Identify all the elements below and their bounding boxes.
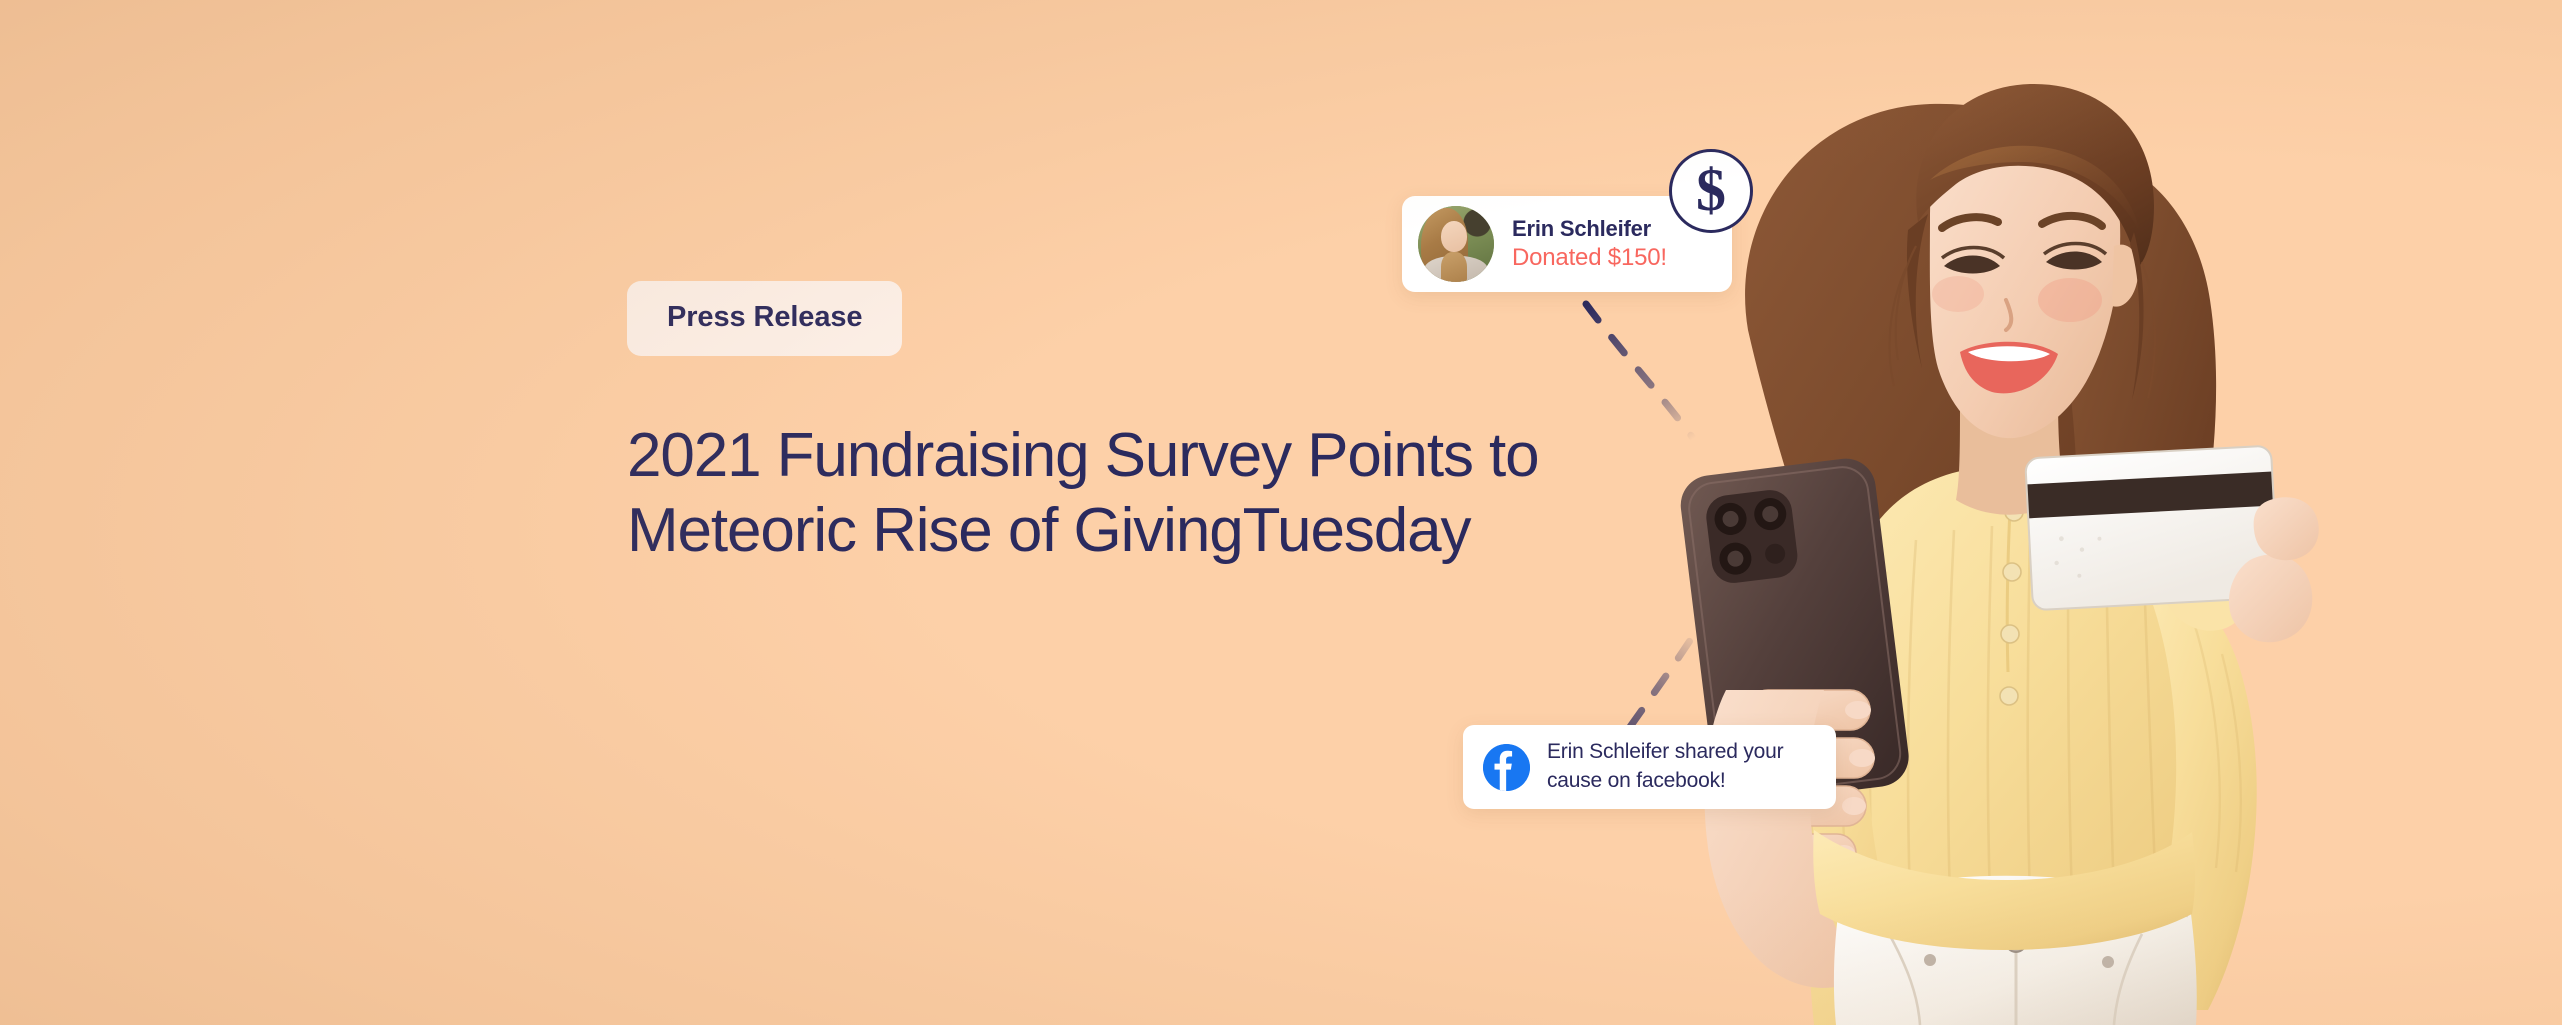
eyebrow-left (1942, 217, 1998, 228)
hair-back-right (2032, 149, 2216, 1025)
jeans-waistband (1840, 888, 2188, 916)
hair-crown (1916, 84, 2154, 268)
eye-left (1944, 256, 2000, 274)
dollar-glyph: $ (1696, 160, 1726, 220)
blush-left (1932, 276, 1984, 312)
jeans-pocket-right (2114, 934, 2142, 1025)
hair-highlight (1930, 146, 2140, 232)
teeth (1968, 346, 2050, 361)
credit-card-texture (2053, 534, 2103, 579)
sweater-buttons (2000, 503, 2023, 705)
fingernails (1833, 701, 1875, 861)
dollar-sign-icon: $ (1669, 149, 1753, 233)
sweater-hem (1813, 830, 2195, 950)
hero-photo-woman-with-phone (1630, 0, 2450, 1025)
facebook-icon (1483, 744, 1530, 791)
sweater-placket (2007, 470, 2012, 672)
eye-right (2046, 252, 2102, 270)
right-hand-thumb (2229, 554, 2312, 642)
hair-back-left (1745, 104, 2157, 1025)
hero-content-column: Press Release 2021 Fundraising Survey Po… (627, 281, 1627, 568)
jeans-rivets (1924, 954, 2114, 968)
sweater-sleeve-right (2134, 552, 2257, 1010)
jeans-button (2006, 932, 2026, 952)
eyebrow-right (2042, 216, 2102, 226)
sweater-torso (1808, 466, 2192, 1025)
sweater-cuff-right (2161, 512, 2251, 631)
facebook-share-notification-card[interactable]: Erin Schleifer shared your cause on face… (1463, 725, 1836, 809)
mouth (1960, 342, 2058, 394)
phone-camera-module (1704, 488, 1800, 586)
press-release-hero-banner: Erin Schleifer Donated $150! $ Erin Schl… (0, 0, 2562, 1025)
donor-avatar (1418, 206, 1494, 282)
donor-name: Erin Schleifer (1512, 216, 1667, 241)
page-title: 2021 Fundraising Survey Points to Meteor… (627, 418, 1547, 568)
press-release-badge[interactable]: Press Release (627, 281, 902, 356)
white-jeans (1834, 876, 2197, 1025)
share-message: Erin Schleifer shared your cause on face… (1547, 738, 1816, 796)
jeans-pocket-left (1888, 932, 1920, 1025)
nose (2006, 300, 2011, 330)
phone-in-hand (1677, 455, 1912, 988)
blush-right (2038, 278, 2102, 322)
neck (1956, 396, 2066, 515)
hair-wisps (1890, 246, 2155, 398)
donation-text-group: Erin Schleifer Donated $150! (1512, 216, 1667, 272)
ear-right (2112, 245, 2138, 307)
right-hand-fingers (2254, 497, 2319, 560)
face (1930, 114, 2120, 438)
credit-card (2025, 446, 2279, 611)
donation-amount: Donated $150! (1512, 244, 1667, 272)
hair-strand-right (2130, 232, 2144, 400)
sweater-knit-texture (1870, 526, 2156, 1010)
hair-strand-left (1907, 214, 1928, 368)
credit-card-magnetic-stripe (2026, 472, 2273, 519)
credit-card-in-hand (2025, 446, 2319, 643)
